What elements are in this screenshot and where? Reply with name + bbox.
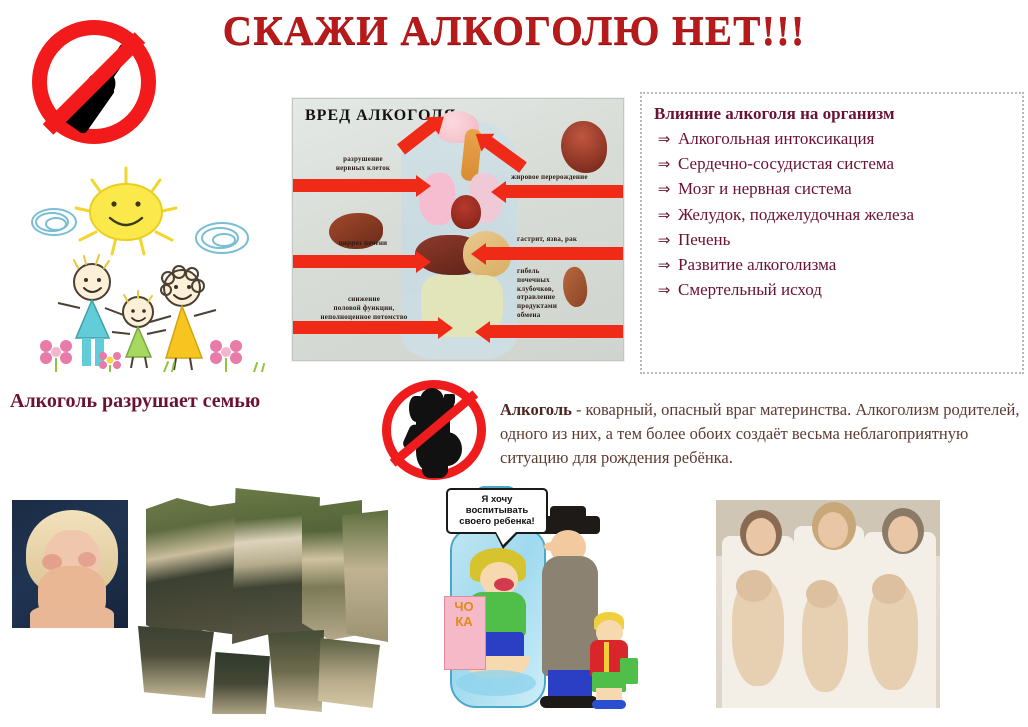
family-drawing-svg <box>14 160 282 372</box>
maternity-lead-word: Алкоголь <box>500 400 572 419</box>
effect-label-5: Развитие алкоголизма <box>678 256 836 275</box>
infant-head <box>872 574 906 604</box>
family-section-headline: Алкоголь разрушает семью <box>10 390 260 413</box>
label-gastritis: гастрит, язва, рак <box>517 235 621 244</box>
nurse-face <box>888 516 918 552</box>
effect-item-4: ⇒ Печень <box>650 231 1018 250</box>
arrow-bullet-icon: ⇒ <box>650 234 678 249</box>
pregnant-legs <box>422 460 448 478</box>
arrow-to-brain <box>292 179 417 192</box>
nurse-face <box>818 512 848 548</box>
infants-nurses-photo <box>716 500 940 708</box>
anatomy-poster-image: ВРЕД АЛКОГОЛЯ разрушение нервных клеток … <box>292 98 624 361</box>
bottle-liquid <box>456 670 536 696</box>
boy-strap <box>604 642 609 676</box>
effects-list-title: Влияние алкоголя на организм <box>654 104 1018 124</box>
man-shoes <box>540 696 598 708</box>
torn-piece <box>138 626 214 698</box>
infant-head <box>806 580 838 608</box>
effect-item-6: ⇒ Смертельный исход <box>650 281 1018 300</box>
maternity-paragraph: Алкоголь - коварный, опасный враг матери… <box>500 398 1024 470</box>
no-alcohol-bottle-icon <box>24 18 176 148</box>
effect-item-0: ⇒ Алкогольная интоксикация <box>650 130 1018 149</box>
heart-organ-icon <box>451 195 481 229</box>
effect-label-3: Желудок, поджелудочная железа <box>678 206 914 225</box>
arrow-bullet-icon: ⇒ <box>650 183 678 198</box>
label-fatty-degeneration: жировое перерождение <box>511 173 621 182</box>
torn-piece <box>342 510 388 642</box>
no-drinking-pregnant-icon <box>382 380 492 485</box>
nurse-face <box>746 518 776 554</box>
maternity-rest-text: - коварный, опасный враг материнства. Ал… <box>500 400 1020 467</box>
effect-item-3: ⇒ Желудок, поджелудочная железа <box>650 206 1018 225</box>
arrow-to-liver <box>292 255 417 268</box>
effect-item-5: ⇒ Развитие алкоголизма <box>650 256 1018 275</box>
label-sexual-function: снижение половой функции, неполноценное … <box>297 295 431 321</box>
diseased-heart-icon <box>561 121 607 173</box>
bottle-label-line1: ЧО <box>454 599 473 614</box>
sun-icon <box>90 184 162 240</box>
boy-shoes <box>592 700 626 709</box>
arrow-to-fatty-degeneration <box>505 185 624 198</box>
arrow-bullet-icon: ⇒ <box>650 259 678 274</box>
arrow-to-reproductive <box>292 321 439 334</box>
arrow-bullet-icon: ⇒ <box>650 209 678 224</box>
label-cirrhosis: цирроз печени <box>313 239 413 248</box>
poster-canvas: СКАЖИ АЛКОГОЛЮ НЕТ!!! <box>0 0 1028 727</box>
boy-bag <box>620 658 638 684</box>
flower-icon-left <box>40 340 72 372</box>
infant-head <box>736 570 772 602</box>
bottle-label-text: ЧО КА <box>446 600 482 630</box>
label-nerve-cells: разрушение нервных клеток <box>315 155 411 173</box>
crying-child-photo <box>12 500 128 628</box>
label-kidney-damage: гибель почечных клубочков, отравление пр… <box>517 267 569 320</box>
arrow-bullet-icon: ⇒ <box>650 284 678 299</box>
flower-icon-mid <box>99 352 121 372</box>
effect-item-1: ⇒ Сердечно-сосудистая система <box>650 155 1018 174</box>
effect-label-0: Алкогольная интоксикация <box>678 130 874 149</box>
drawing-figure-mother <box>150 266 216 370</box>
woman-in-bottle-cartoon: ЧО КА Я хочу воспитывать своего ребенка! <box>438 484 638 716</box>
effect-label-1: Сердечно-сосудистая система <box>678 155 894 174</box>
flower-icon-right <box>210 340 242 372</box>
torn-piece <box>212 652 270 714</box>
arrow-bullet-icon: ⇒ <box>650 133 678 148</box>
torn-piece <box>318 638 380 708</box>
arrow-bullet-icon: ⇒ <box>650 158 678 173</box>
man-nose <box>544 542 558 551</box>
arrow-to-kidney <box>489 325 624 338</box>
bottle-label-line2: КА <box>455 614 472 629</box>
effect-label-2: Мозг и нервная система <box>678 180 852 199</box>
torn-family-photo <box>132 470 394 714</box>
cloud-scribble-left <box>32 209 76 235</box>
torn-piece <box>268 630 324 712</box>
effect-label-6: Смертельный исход <box>678 281 822 300</box>
effect-item-2: ⇒ Мозг и нервная система <box>650 180 1018 199</box>
effect-label-4: Печень <box>678 231 730 250</box>
cloud-scribble-right <box>196 223 248 253</box>
child-body <box>30 604 114 628</box>
effects-list-box: Влияние алкоголя на организм ⇒ Алкогольн… <box>640 92 1024 374</box>
arrow-to-stomach <box>485 247 624 260</box>
child-crayon-family-drawing <box>14 160 282 372</box>
speech-bubble: Я хочу воспитывать своего ребенка! <box>446 488 548 534</box>
child-cheek-right <box>78 552 96 567</box>
woman-mouth <box>494 578 514 591</box>
